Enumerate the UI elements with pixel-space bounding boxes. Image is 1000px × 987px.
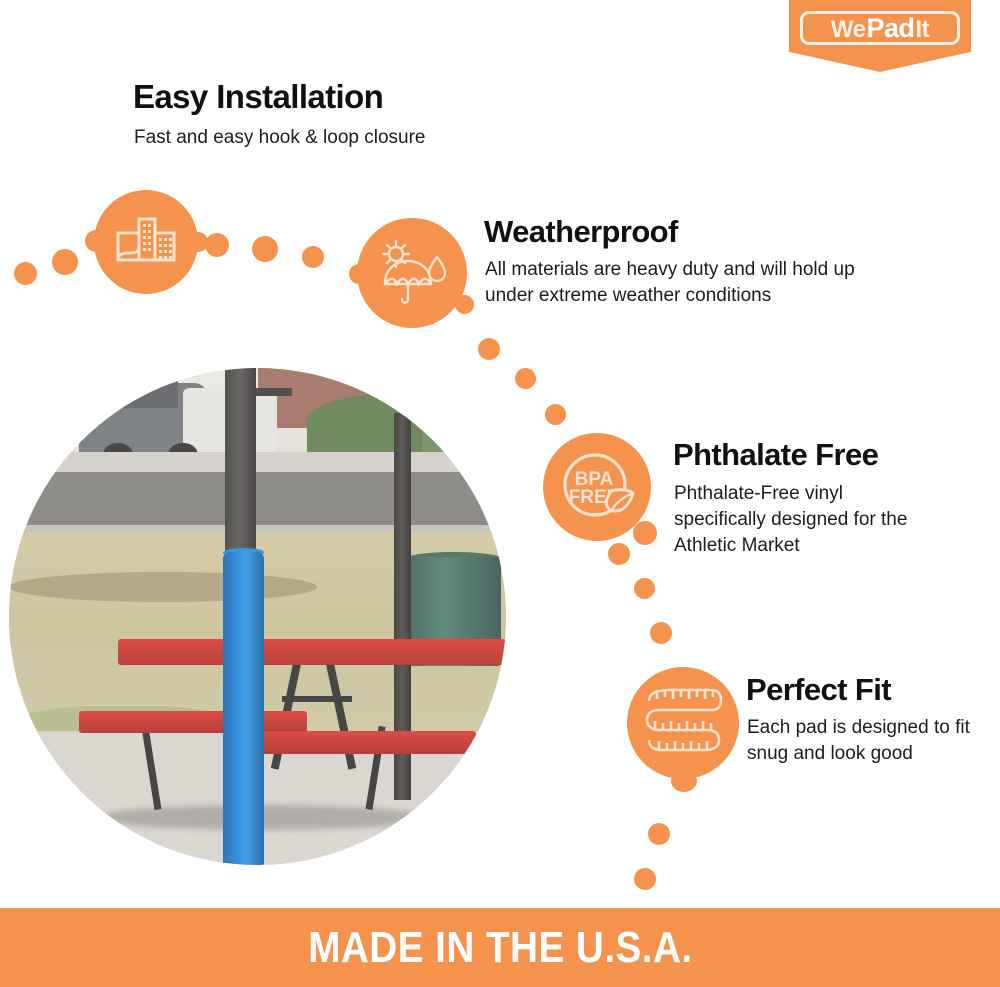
trail-dot xyxy=(205,233,229,257)
feature-description-weatherproof: All materials are heavy duty and will ho… xyxy=(485,257,905,309)
trail-dot xyxy=(634,868,656,890)
product-photo xyxy=(9,368,506,865)
brand-logo: WePadIt xyxy=(789,0,971,72)
feature-title-weatherproof: Weatherproof xyxy=(484,215,678,248)
buildings-icon xyxy=(94,190,198,294)
trail-dot xyxy=(545,404,566,425)
bpa-free-icon-glyph: BPA FREE xyxy=(555,445,639,529)
icon-nub xyxy=(85,230,107,252)
made-in-usa-text: MADE IN THE U.S.A. xyxy=(308,923,692,973)
icon-nub xyxy=(349,264,369,284)
brand-logo-pad: Pad xyxy=(866,15,914,42)
product-feature-infographic: WePadIt Easy Installation Fast and easy … xyxy=(0,0,1000,987)
feature-title-perfect-fit: Perfect Fit xyxy=(746,673,891,706)
trail-dot xyxy=(14,262,37,285)
made-in-usa-banner: MADE IN THE U.S.A. xyxy=(0,908,1000,987)
feature-description-phthalate-free: Phthalate-Free vinyl specifically design… xyxy=(674,481,934,560)
measuring-tape-icon xyxy=(627,667,739,779)
icon-nub xyxy=(188,232,208,252)
brand-logo-we: We xyxy=(831,18,866,42)
buildings-icon-glyph xyxy=(115,213,177,271)
brand-logo-frame: WePadIt xyxy=(800,11,960,45)
trail-dot xyxy=(478,338,500,360)
trail-dot xyxy=(608,543,630,565)
trail-dot xyxy=(52,249,78,275)
brand-logo-text: WePadIt xyxy=(831,15,929,42)
bpa-free-leaf-icon: BPA FREE xyxy=(543,433,651,541)
icon-nub xyxy=(671,770,697,792)
feature-description-perfect-fit: Each pad is designed to fit snug and loo… xyxy=(747,715,972,767)
icon-nub xyxy=(633,521,657,545)
measuring-tape-icon-glyph xyxy=(641,683,725,763)
trail-dot xyxy=(302,246,324,268)
trail-dot xyxy=(650,622,672,644)
brand-logo-it: It xyxy=(915,18,929,42)
photo-overlay xyxy=(9,368,506,865)
trail-dot xyxy=(648,823,670,845)
icon-nub xyxy=(455,295,474,314)
feature-title-phthalate-free: Phthalate Free xyxy=(673,438,878,471)
weatherproof-icon-glyph xyxy=(376,239,448,307)
sun-umbrella-raindrop-icon xyxy=(357,218,467,328)
trail-dot xyxy=(634,578,655,599)
feature-description-easy-installation: Fast and easy hook & loop closure xyxy=(134,125,426,151)
trail-dot xyxy=(515,368,536,389)
trail-dot xyxy=(252,236,278,262)
feature-title-easy-installation: Easy Installation xyxy=(133,79,383,115)
